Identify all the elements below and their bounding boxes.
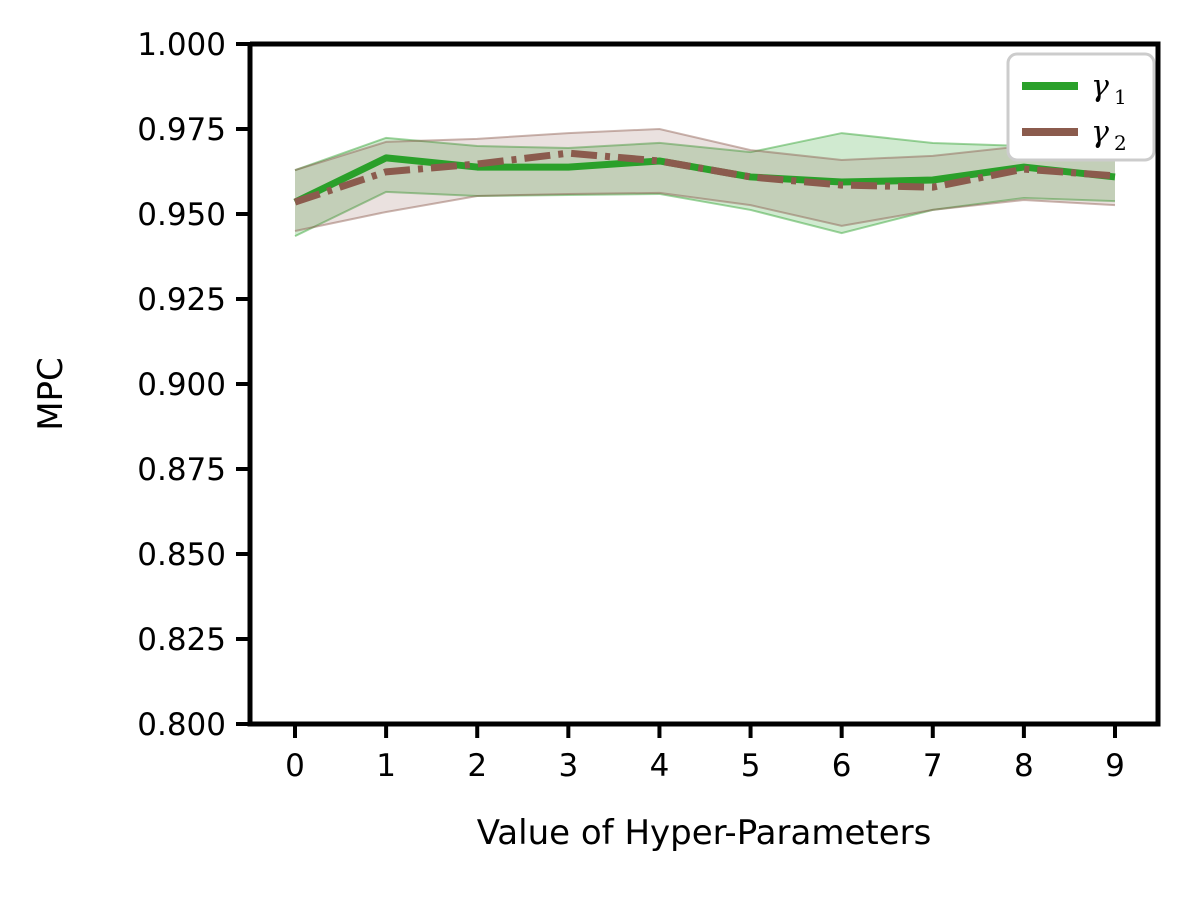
- x-tick-label-7: 7: [923, 748, 943, 784]
- legend-label-gamma-2: γ: [1091, 115, 1109, 150]
- legend-box: [1008, 54, 1154, 160]
- y-tick-label-0.850: 0.850: [137, 537, 226, 573]
- x-axis-tick-labels: 0123456789: [285, 748, 1125, 784]
- y-tick-label-1.000: 1.000: [137, 27, 226, 63]
- y-tick-label-0.875: 0.875: [137, 452, 226, 488]
- x-tick-label-5: 5: [741, 748, 761, 784]
- confidence-band-group: [295, 129, 1115, 236]
- x-tick-label-6: 6: [832, 748, 852, 784]
- x-tick-label-0: 0: [285, 748, 305, 784]
- x-axis-title: Value of Hyper-Parameters: [477, 813, 932, 853]
- figure-canvas: 0123456789 0.8000.8250.8500.8750.9000.92…: [0, 0, 1200, 900]
- x-tick-label-1: 1: [376, 748, 396, 784]
- x-tick-label-3: 3: [558, 748, 578, 784]
- y-tick-label-0.925: 0.925: [137, 282, 226, 318]
- y-tick-label-0.825: 0.825: [137, 622, 226, 658]
- x-tick-label-8: 8: [1014, 748, 1034, 784]
- legend-sublabel-gamma-2: 2: [1114, 131, 1127, 155]
- line-chart: 0123456789 0.8000.8250.8500.8750.9000.92…: [0, 0, 1200, 900]
- y-tick-label-0.975: 0.975: [137, 112, 226, 148]
- legend-sublabel-gamma-1: 1: [1114, 85, 1127, 109]
- y-tick-label-0.900: 0.900: [137, 367, 226, 403]
- x-tick-label-4: 4: [650, 748, 670, 784]
- x-tick-label-9: 9: [1105, 748, 1125, 784]
- y-axis-tick-labels: 0.8000.8250.8500.8750.9000.9250.9500.975…: [137, 27, 226, 743]
- y-axis-title: MPC: [31, 357, 71, 431]
- legend[interactable]: γ 1 γ 2: [1008, 54, 1154, 160]
- y-tick-label-0.950: 0.950: [137, 197, 226, 233]
- legend-label-gamma-1: γ: [1091, 69, 1109, 104]
- y-tick-label-0.800: 0.800: [137, 707, 226, 743]
- x-tick-label-2: 2: [467, 748, 487, 784]
